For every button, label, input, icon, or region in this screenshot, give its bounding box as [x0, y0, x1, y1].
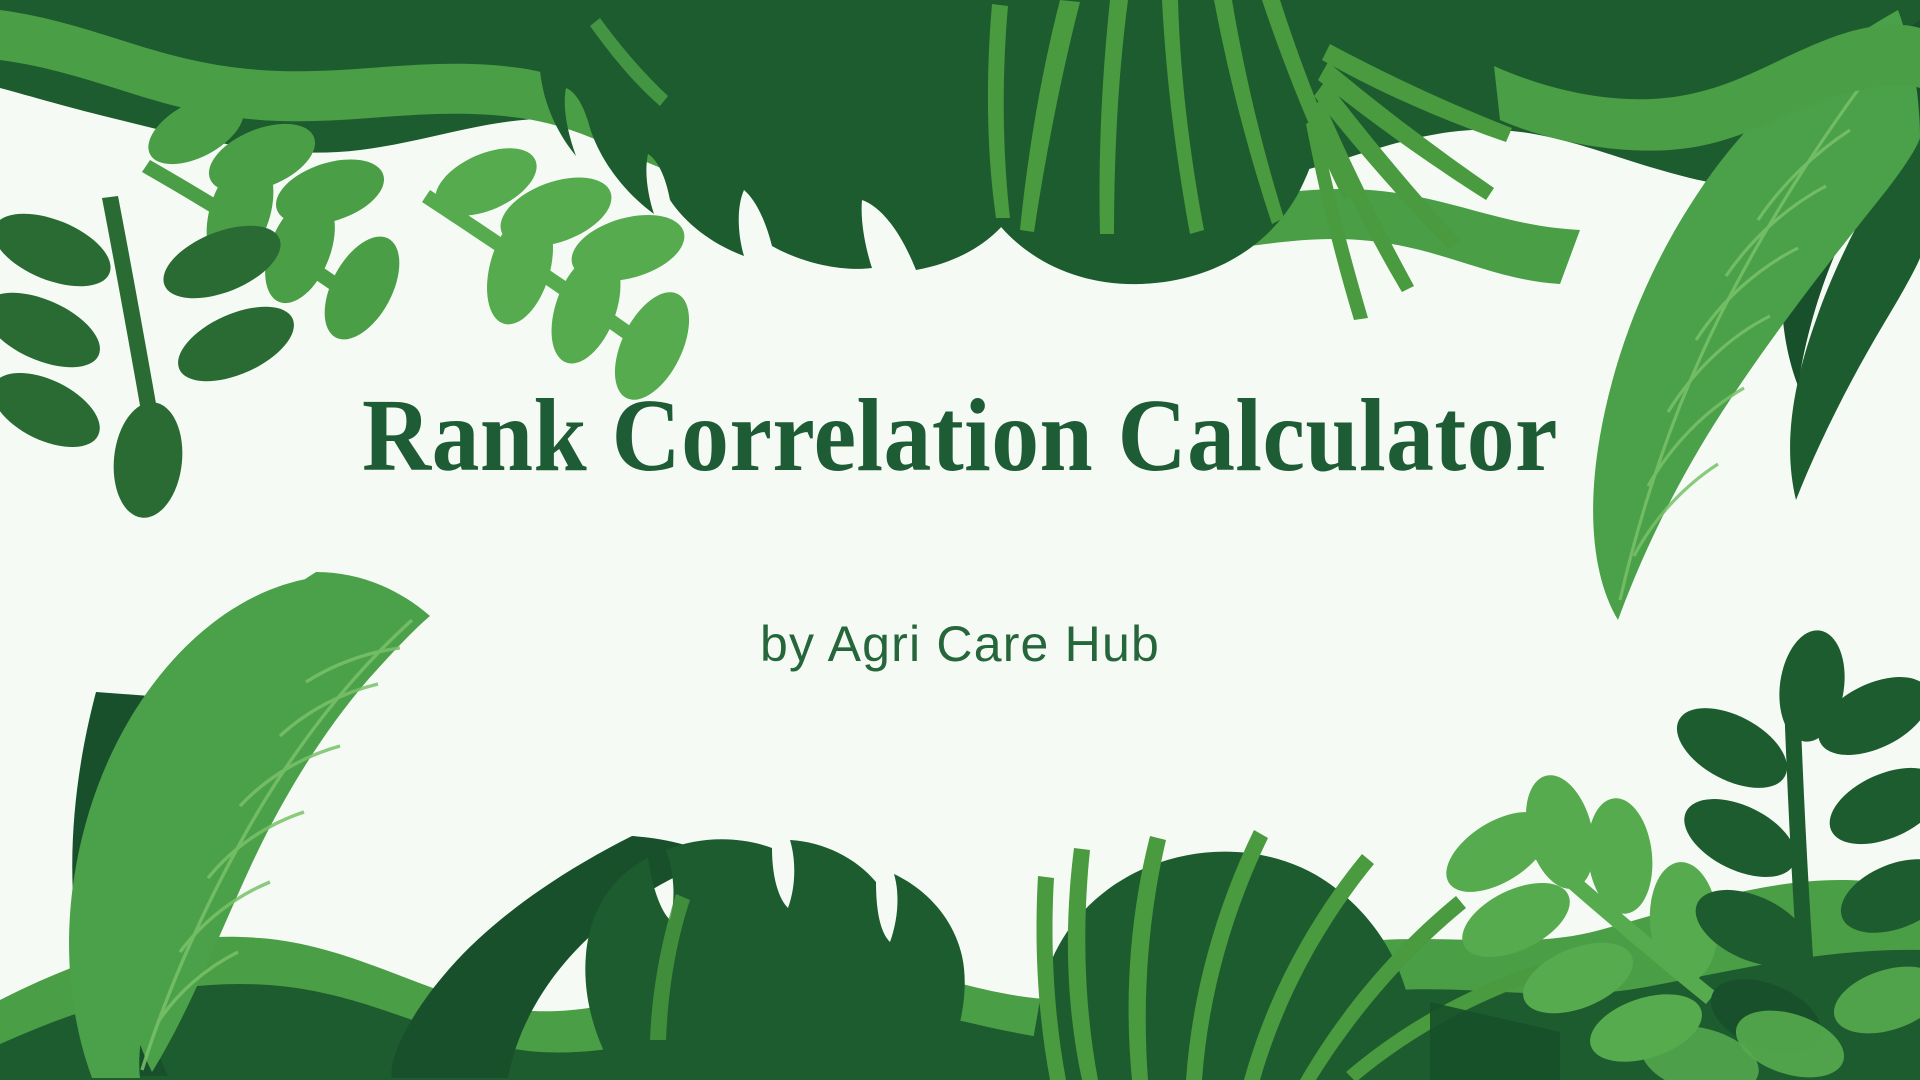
- page-title: Rank Correlation Calculator: [77, 382, 1843, 490]
- poster-canvas: Rank Correlation Calculator by Agri Care…: [0, 0, 1920, 1080]
- page-subtitle: by Agri Care Hub: [0, 614, 1920, 674]
- title-block: Rank Correlation Calculator by Agri Care…: [0, 0, 1920, 1080]
